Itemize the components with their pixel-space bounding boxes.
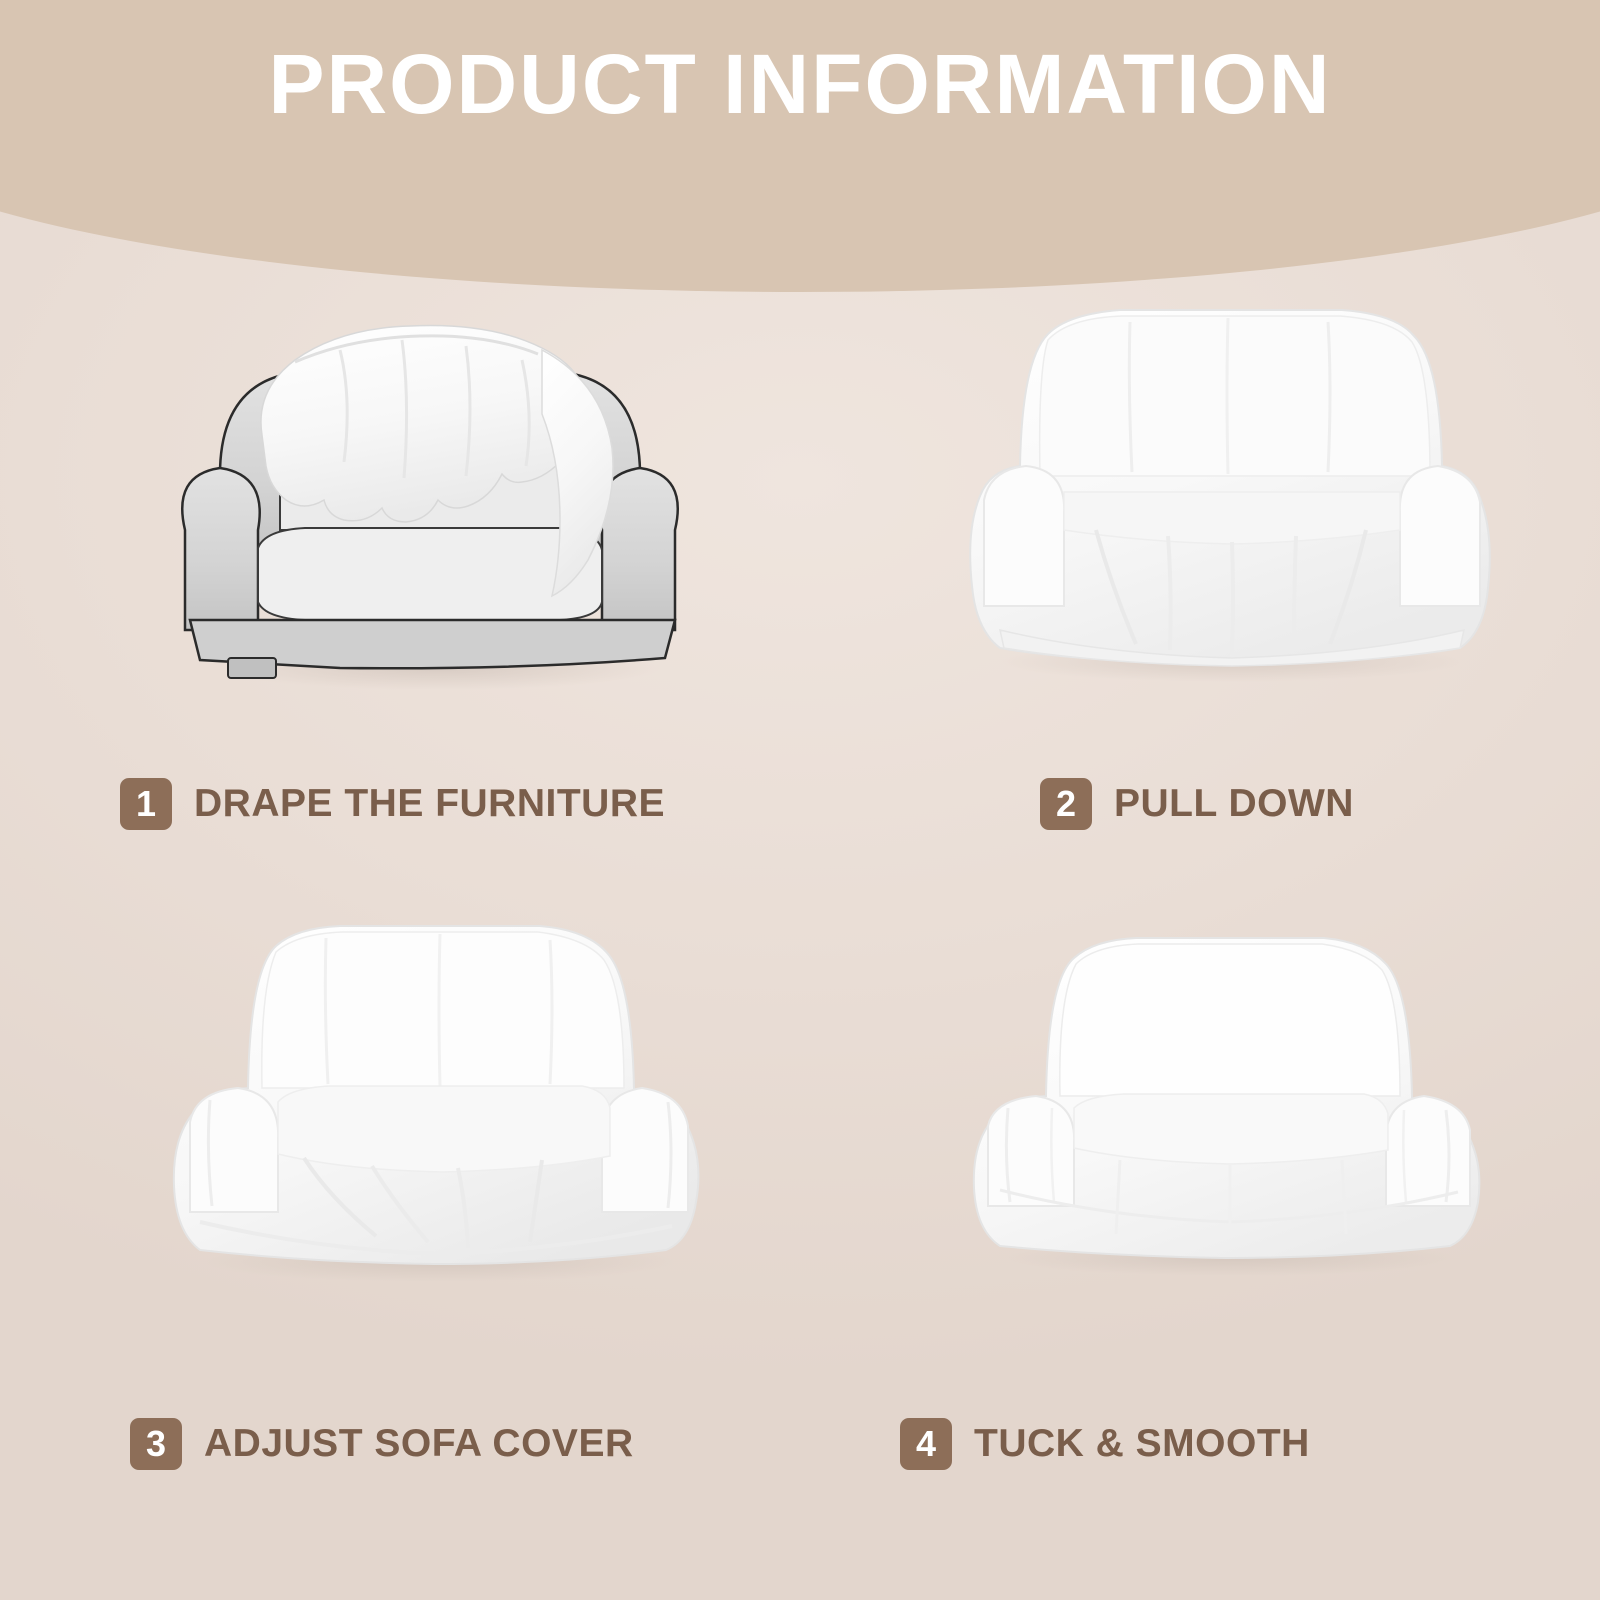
step-panel-3: 3 ADJUST SOFA COVER	[90, 850, 790, 1470]
header-banner: PRODUCT INFORMATION	[0, 0, 1600, 178]
armchair-covered-photo	[880, 230, 1580, 700]
step-1-label: DRAPE THE FURNITURE	[194, 782, 665, 826]
step-4-image-area	[880, 850, 1580, 1320]
step-2-caption: 2 PULL DOWN	[1040, 778, 1354, 830]
step-3-image-area	[90, 850, 790, 1320]
step-3-label: ADJUST SOFA COVER	[204, 1422, 634, 1466]
step-panel-1: 1 DRAPE THE FURNITURE	[90, 230, 790, 830]
step-3-caption: 3 ADJUST SOFA COVER	[130, 1418, 634, 1470]
step-panel-4: 4 TUCK & SMOOTH	[880, 850, 1580, 1470]
page-title: PRODUCT INFORMATION	[0, 34, 1600, 134]
step-2-number-badge: 2	[1040, 778, 1092, 830]
step-1-image-area	[90, 230, 790, 700]
armchair-draped-photo	[90, 230, 790, 700]
step-1-caption: 1 DRAPE THE FURNITURE	[120, 778, 665, 830]
armchair-finished-photo	[880, 850, 1580, 1320]
step-4-number-badge: 4	[900, 1418, 952, 1470]
product-information-infographic: PRODUCT INFORMATION	[0, 0, 1600, 1600]
step-2-image-area	[880, 230, 1580, 700]
step-1-number-badge: 1	[120, 778, 172, 830]
step-2-label: PULL DOWN	[1114, 782, 1354, 826]
armchair-adjusted-photo	[90, 850, 790, 1320]
step-4-caption: 4 TUCK & SMOOTH	[900, 1418, 1310, 1470]
step-4-label: TUCK & SMOOTH	[974, 1422, 1310, 1466]
step-panel-2: 2 PULL DOWN	[880, 230, 1580, 830]
steps-grid: 1 DRAPE THE FURNITURE	[0, 200, 1600, 1600]
step-3-number-badge: 3	[130, 1418, 182, 1470]
